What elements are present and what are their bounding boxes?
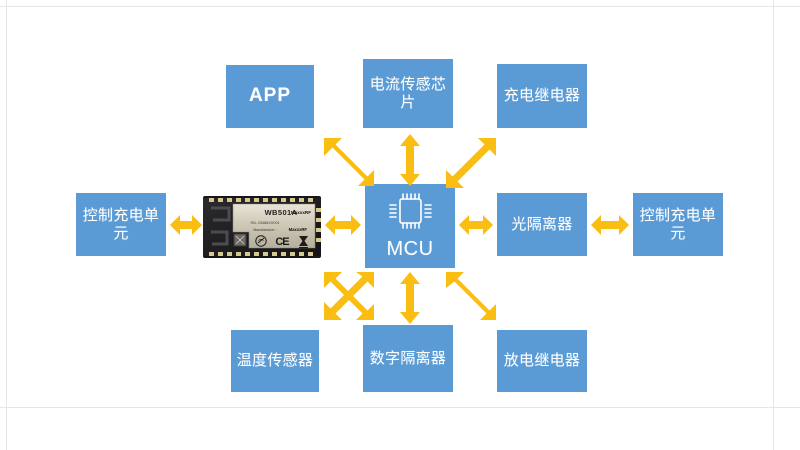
- node-mcu-label: MCU: [386, 238, 433, 262]
- node-digital-isolator[interactable]: 数字隔离器: [363, 325, 453, 392]
- frame-line-bottom: [0, 407, 800, 408]
- node-mcu[interactable]: MCU: [365, 184, 455, 268]
- node-charge-control-unit-right-label: 控制充电单元: [638, 207, 718, 242]
- arrow-mcu-current-sensor-chip: [399, 134, 421, 186]
- arrow-optical-isolator-charge-control-unit-right: [591, 214, 629, 236]
- svg-text:Manufacturer :: Manufacturer :: [253, 228, 276, 232]
- wb501a-module-image: WB501A MaxxxRF SN: 23466XX001 Manufactur…: [203, 196, 321, 258]
- node-digital-isolator-label: 数字隔离器: [370, 350, 447, 368]
- node-charge-relay[interactable]: 充电继电器: [497, 64, 587, 128]
- node-temperature-sensor[interactable]: 温度传感器: [231, 330, 319, 392]
- arrow-mcu-discharge-relay: [444, 272, 498, 322]
- node-current-sensor-chip-label: 电流传感芯片: [368, 76, 448, 111]
- node-charge-control-unit-left-label: 控制充电单元: [81, 207, 161, 242]
- node-charge-control-unit-left[interactable]: 控制充电单元: [76, 193, 166, 256]
- microchip-icon: [387, 191, 433, 236]
- node-current-sensor-chip[interactable]: 电流传感芯片: [363, 59, 453, 128]
- node-optical-isolator-label: 光隔离器: [511, 216, 572, 234]
- svg-text:CE: CE: [275, 236, 289, 248]
- arrow-mcu-temperature-sensor: [322, 272, 376, 322]
- wb501a-module-illustration: WB501A MaxxxRF SN: 23466XX001 Manufactur…: [203, 196, 321, 258]
- node-app[interactable]: APP: [226, 65, 314, 128]
- node-optical-isolator[interactable]: 光隔离器: [497, 193, 587, 256]
- node-discharge-relay-label: 放电继电器: [504, 352, 581, 370]
- node-discharge-relay[interactable]: 放电继电器: [497, 330, 587, 392]
- node-charge-relay-label: 充电继电器: [504, 87, 581, 105]
- arrow-mcu-charge-relay: [444, 136, 498, 186]
- svg-text:MaxxxRF: MaxxxRF: [289, 227, 308, 232]
- arrow-module-charge-control-unit-left: [170, 214, 202, 236]
- arrow-mcu-digital-isolator: [399, 272, 421, 324]
- arrow-mcu-app: [322, 136, 376, 186]
- diagram-canvas: APP 电流传感芯片 充电继电器 控制充电单元: [0, 0, 800, 450]
- node-app-label: APP: [249, 85, 291, 107]
- node-temperature-sensor-label: 温度传感器: [237, 352, 314, 370]
- arrow-mcu-module: [325, 214, 361, 236]
- svg-text:SN: 23466XX001: SN: 23466XX001: [250, 221, 279, 225]
- svg-text:MaxxxRF: MaxxxRF: [291, 210, 311, 215]
- frame-line-top: [0, 6, 800, 7]
- node-charge-control-unit-right[interactable]: 控制充电单元: [633, 193, 723, 256]
- frame-line-right: [773, 0, 774, 450]
- frame-line-left: [6, 0, 7, 450]
- arrow-mcu-optical-isolator: [459, 214, 493, 236]
